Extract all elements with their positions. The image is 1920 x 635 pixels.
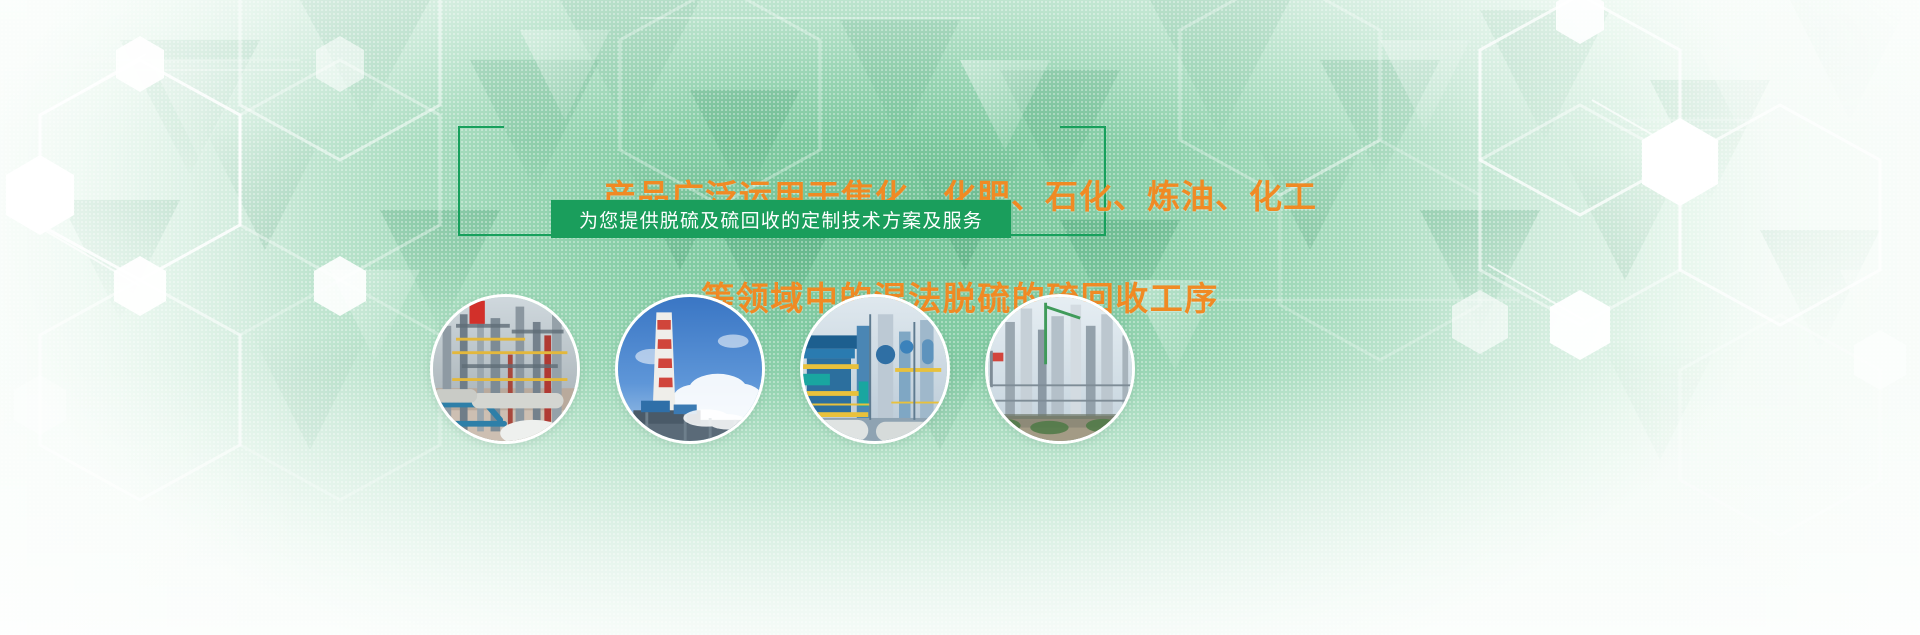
photo-1-image: [433, 297, 577, 441]
subtitle-ribbon: 为您提供脱硫及硫回收的定制技术方案及服务: [551, 200, 1011, 238]
banner-stage: 产品广泛运用于焦化、化肥、石化、炼油、化工 等领域中的湿法脱硫的硫回收工序 为您…: [0, 0, 1920, 635]
photo-2-image: [618, 297, 762, 441]
photo-circle-chimney-stack-plant: [615, 294, 765, 444]
photo-circle-desulfurization-plant-piping: [430, 294, 580, 444]
photo-circle-sulfur-recovery-unit: [800, 294, 950, 444]
photo-circle-refinery-towers: [985, 294, 1135, 444]
subtitle-text: 为您提供脱硫及硫回收的定制技术方案及服务: [579, 206, 983, 233]
photo-circle-row: [0, 294, 1920, 454]
banner-content: 产品广泛运用于焦化、化肥、石化、炼油、化工 等领域中的湿法脱硫的硫回收工序 为您…: [0, 0, 1920, 635]
photo-4-image: [988, 297, 1132, 441]
photo-3-image: [803, 297, 947, 441]
